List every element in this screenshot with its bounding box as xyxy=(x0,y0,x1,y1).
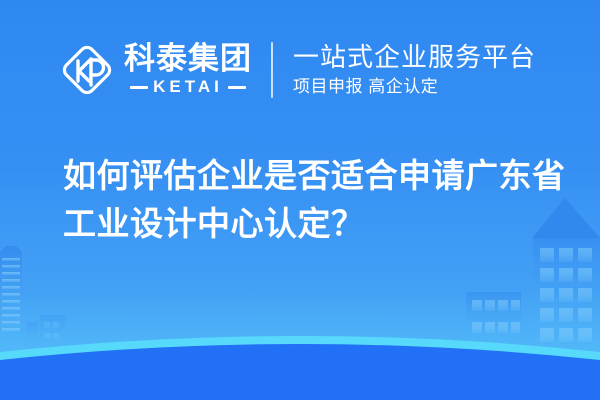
ketai-diamond-logo-icon xyxy=(58,41,116,99)
dash-right-icon xyxy=(228,86,246,89)
page-title: 如何评估企业是否适合申请广东省工业设计中心认定？ xyxy=(63,152,568,248)
brand-name-cn: 科泰集团 xyxy=(124,43,252,75)
banner: 科泰集团 KETAI 一站式企业服务平台 项目申报 高企认定 如何评估企业是否适… xyxy=(0,0,600,400)
slogan-block: 一站式企业服务平台 项目申报 高企认定 xyxy=(293,42,536,98)
header-divider xyxy=(271,42,273,98)
slogan-main: 一站式企业服务平台 xyxy=(293,42,536,72)
header: 科泰集团 KETAI 一站式企业服务平台 项目申报 高企认定 xyxy=(0,0,600,140)
dash-left-icon xyxy=(130,86,148,89)
logo-wordmark: 科泰集团 KETAI xyxy=(124,43,252,97)
logo[interactable]: 科泰集团 KETAI xyxy=(58,41,252,99)
brand-name-en: KETAI xyxy=(153,77,223,97)
slogan-sub: 项目申报 高企认定 xyxy=(293,76,536,98)
brand-name-en-row: KETAI xyxy=(124,77,252,97)
